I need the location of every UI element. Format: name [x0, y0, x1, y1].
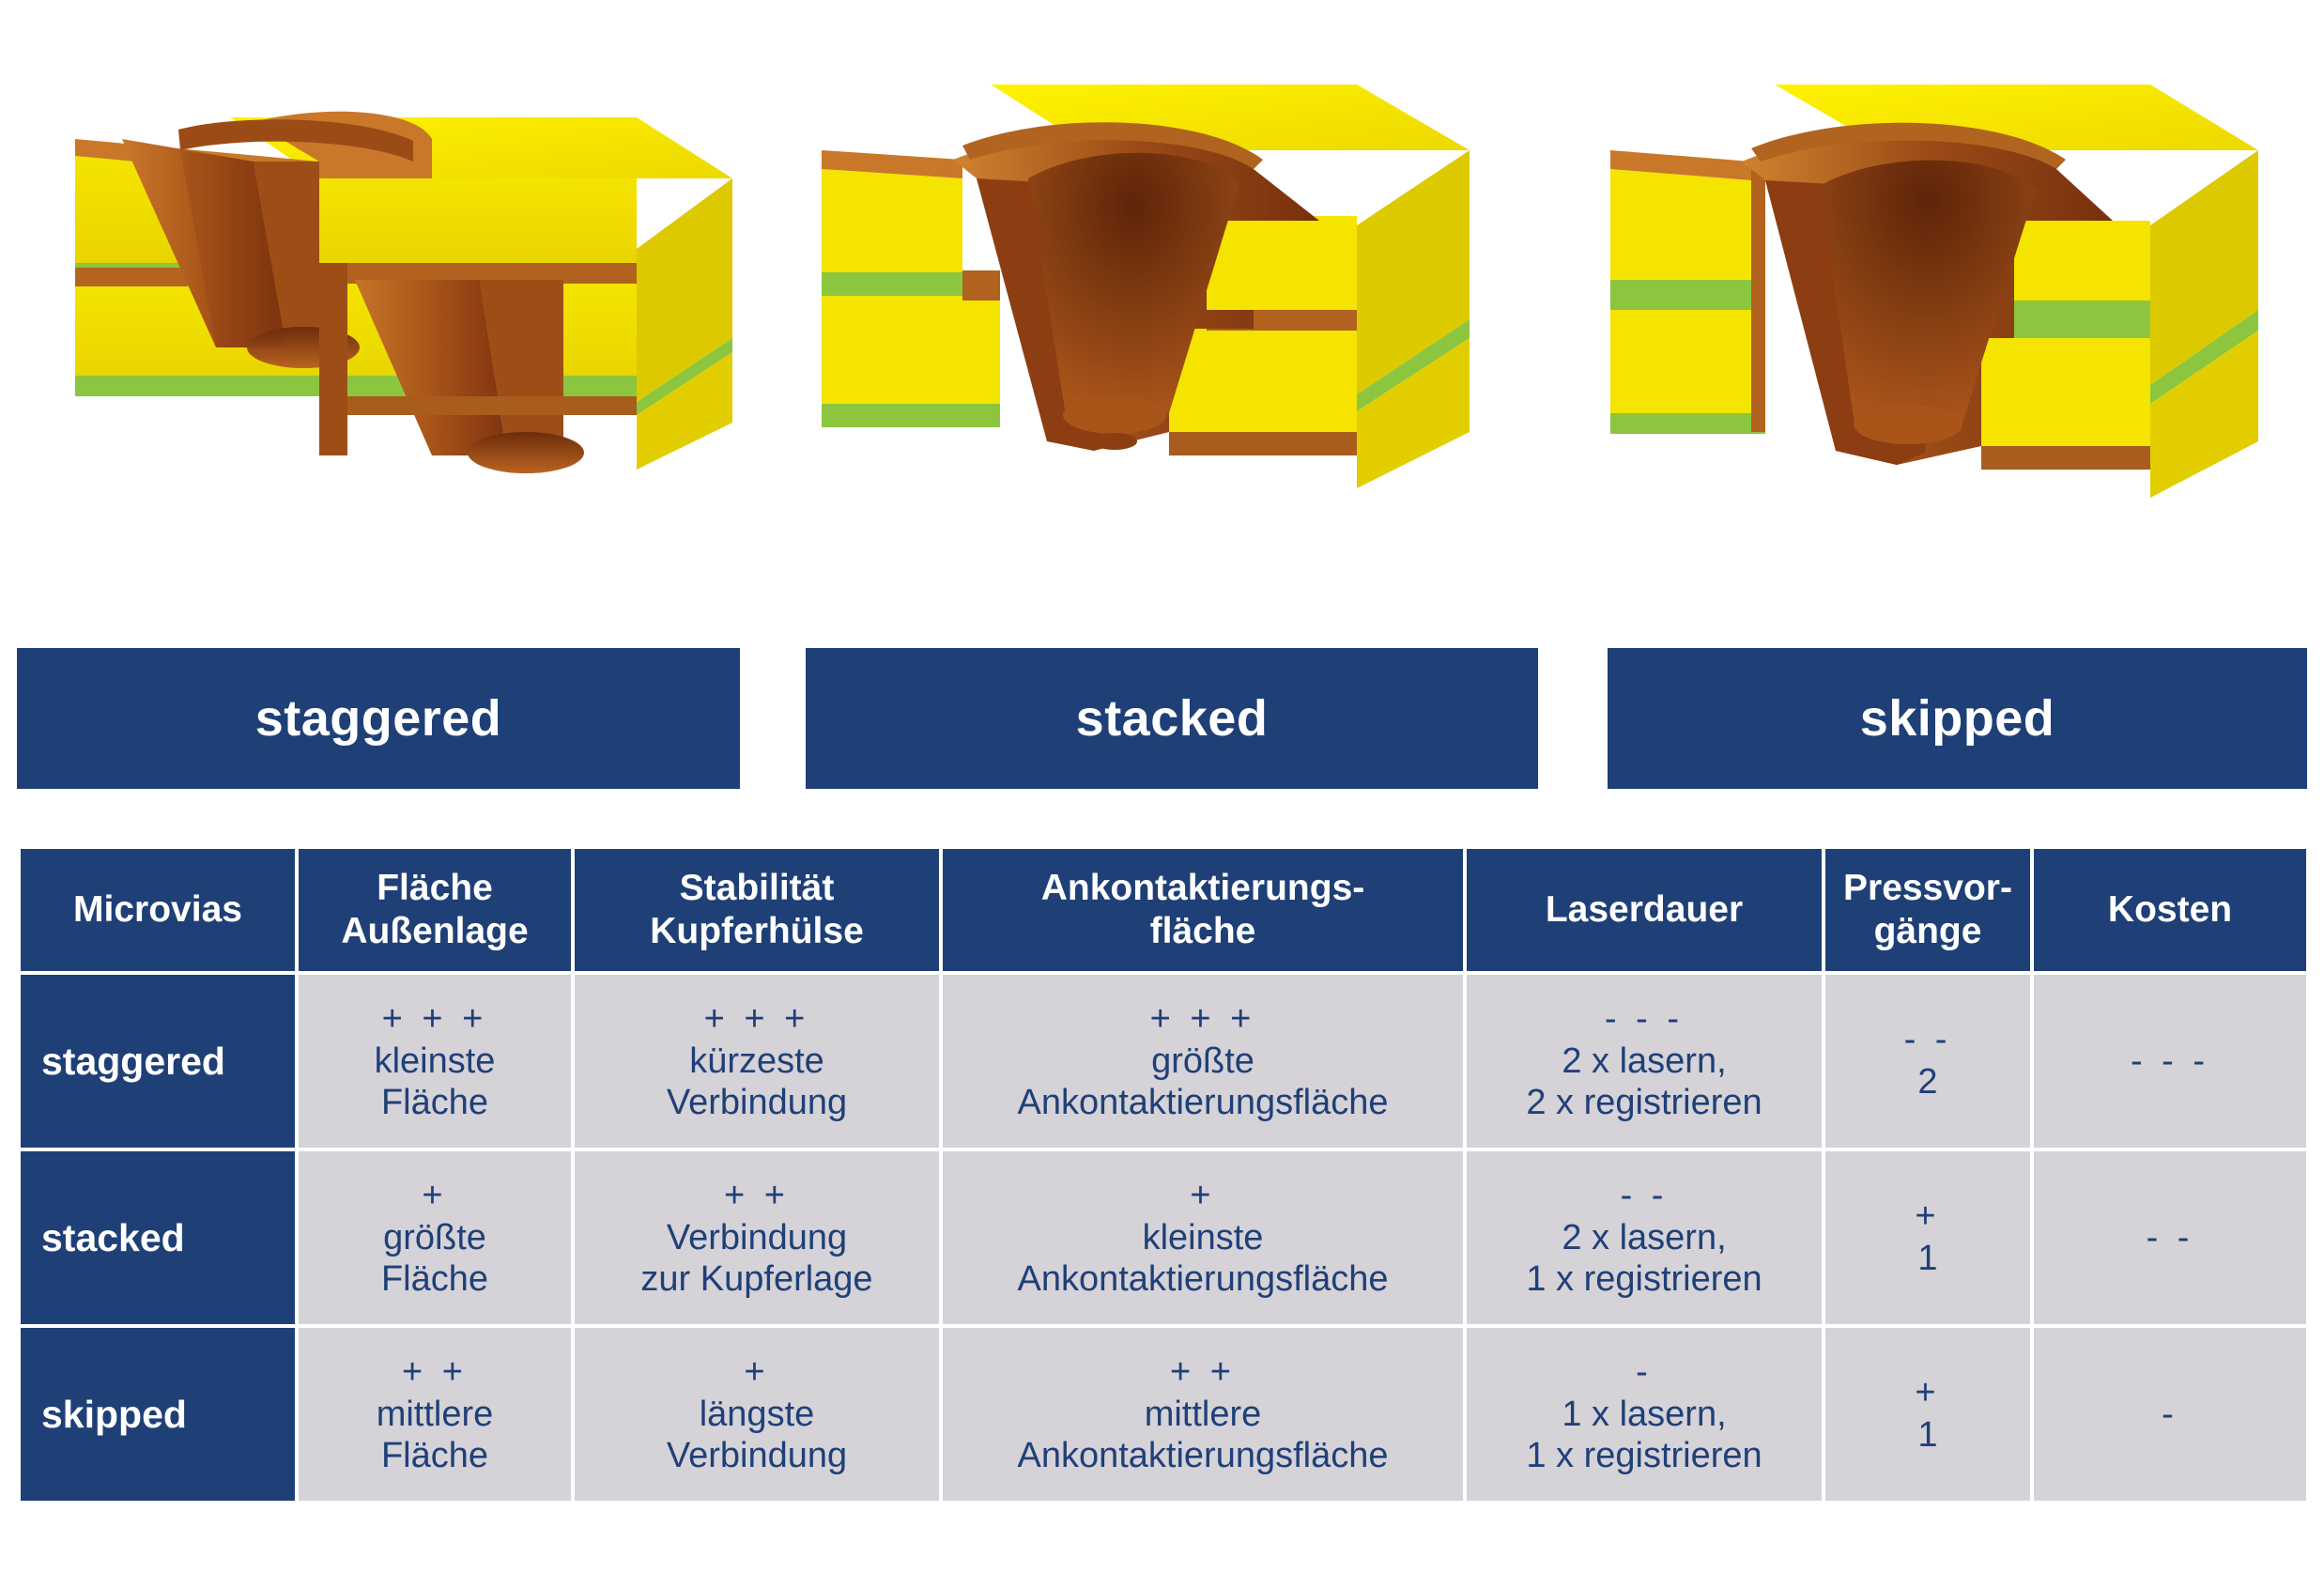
table-row: skipped + + mittlere Fläche + längste Ve… — [21, 1328, 2306, 1501]
cell-skipped-flaeche-aussenlage: + + mittlere Fläche — [299, 1328, 571, 1501]
cell-stacked-flaeche-aussenlage: + größte Fläche — [299, 1151, 571, 1324]
rating: - - - — [2041, 1041, 2299, 1083]
column-header-pressvorgaenge: Pressvor- gänge — [1825, 849, 2030, 971]
rating: + + — [950, 1351, 1455, 1394]
cell-skipped-laserdauer: - 1 x lasern, 1 x registrieren — [1467, 1328, 1822, 1501]
caption-banners: staggered stacked skipped — [0, 648, 2324, 789]
table-row: staggered + + + kleinste Fläche + + + kü… — [21, 975, 2306, 1148]
detail-line: größte — [306, 1217, 563, 1259]
rating: + — [950, 1175, 1455, 1217]
banner-staggered: staggered — [17, 648, 740, 789]
rating: + + — [306, 1351, 563, 1394]
detail-line: 2 x lasern, — [1474, 1217, 1814, 1259]
detail-line: Verbindung — [582, 1082, 931, 1124]
cell-staggered-ankontaktierungsflaeche: + + + größte Ankontaktierungsfläche — [943, 975, 1463, 1148]
microvia-illustrations — [0, 0, 2324, 601]
microvia-comparison-table: Microvias Fläche Außenlage Stabilität Ku… — [17, 845, 2310, 1504]
detail-line: größte — [950, 1041, 1455, 1083]
header-line: gänge — [1874, 911, 1982, 951]
header-line: Ankontaktierungs- — [1041, 868, 1365, 908]
detail-line: 1 x registrieren — [1474, 1258, 1814, 1301]
rating: - - — [1474, 1175, 1814, 1217]
detail-line: 2 x registrieren — [1474, 1082, 1814, 1124]
detail-line: mittlere — [950, 1394, 1455, 1436]
detail-line: kleinste — [950, 1217, 1455, 1259]
header-line: fläche — [1150, 911, 1256, 951]
cell-stacked-laserdauer: - - 2 x lasern, 1 x registrieren — [1467, 1151, 1822, 1324]
header-line: Microvias — [73, 889, 242, 930]
detail-line: Fläche — [306, 1082, 563, 1124]
detail-line: Ankontaktierungsfläche — [950, 1082, 1455, 1124]
cell-staggered-pressvorgaenge: - - 2 — [1825, 975, 2030, 1148]
row-header-staggered: staggered — [21, 975, 295, 1148]
cell-stacked-stabilitaet-kupferhuelse: + + Verbindung zur Kupferlage — [575, 1151, 939, 1324]
cell-stacked-ankontaktierungsflaeche: + kleinste Ankontaktierungsfläche — [943, 1151, 1463, 1324]
detail-line: 1 x registrieren — [1474, 1435, 1814, 1477]
cell-staggered-laserdauer: - - - 2 x lasern, 2 x registrieren — [1467, 975, 1822, 1148]
header-line: Außenlage — [341, 911, 528, 951]
banner-stacked: stacked — [806, 648, 1538, 789]
rating: + + + — [950, 998, 1455, 1041]
figure-staggered-microvia — [38, 28, 732, 517]
detail-line: kleinste — [306, 1041, 563, 1083]
column-header-kosten: Kosten — [2034, 849, 2306, 971]
figure-skipped-microvia — [1587, 28, 2282, 535]
column-header-ankontaktierungsflaeche: Ankontaktierungs- fläche — [943, 849, 1463, 971]
detail-line: Verbindung — [582, 1217, 931, 1259]
detail-line: 2 x lasern, — [1474, 1041, 1814, 1083]
header-line: Laserdauer — [1546, 889, 1743, 930]
rating: - - — [2041, 1217, 2299, 1259]
cell-skipped-pressvorgaenge: + 1 — [1825, 1328, 2030, 1501]
rating: + + — [582, 1175, 931, 1217]
header-line: Kupferhülse — [650, 911, 864, 951]
cell-stacked-kosten: - - — [2034, 1151, 2306, 1324]
cell-staggered-flaeche-aussenlage: + + + kleinste Fläche — [299, 975, 571, 1148]
detail-line: 2 — [1833, 1061, 2023, 1103]
rating: + — [306, 1175, 563, 1217]
row-header-skipped: skipped — [21, 1328, 295, 1501]
rating: + — [1833, 1372, 2023, 1414]
header-line: Fläche — [377, 868, 493, 908]
cell-stacked-pressvorgaenge: + 1 — [1825, 1151, 2030, 1324]
detail-line: 1 — [1833, 1414, 2023, 1457]
cell-skipped-stabilitaet-kupferhuelse: + längste Verbindung — [575, 1328, 939, 1501]
rating: - - — [1833, 1019, 2023, 1061]
detail-line: Ankontaktierungsfläche — [950, 1258, 1455, 1301]
header-line: Pressvor- — [1843, 868, 2012, 908]
cell-skipped-ankontaktierungsflaeche: + + mittlere Ankontaktierungsfläche — [943, 1328, 1463, 1501]
column-header-laserdauer: Laserdauer — [1467, 849, 1822, 971]
detail-line: Fläche — [306, 1435, 563, 1477]
detail-line: längste — [582, 1394, 931, 1436]
detail-line: Fläche — [306, 1258, 563, 1301]
rating: - — [2041, 1394, 2299, 1436]
detail-line: Ankontaktierungsfläche — [950, 1435, 1455, 1477]
rating: - — [1474, 1351, 1814, 1394]
rating: + + + — [306, 998, 563, 1041]
rating: + + + — [582, 998, 931, 1041]
column-header-flaeche-aussenlage: Fläche Außenlage — [299, 849, 571, 971]
table-header-row: Microvias Fläche Außenlage Stabilität Ku… — [21, 849, 2306, 971]
banner-skipped: skipped — [1608, 648, 2307, 789]
figure-stacked-microvia — [812, 28, 1488, 526]
cell-skipped-kosten: - — [2034, 1328, 2306, 1501]
column-header-microvias: Microvias — [21, 849, 295, 971]
cell-staggered-stabilitaet-kupferhuelse: + + + kürzeste Verbindung — [575, 975, 939, 1148]
header-line: Kosten — [2108, 889, 2232, 930]
rating: + — [1833, 1195, 2023, 1238]
header-line: Stabilität — [680, 868, 835, 908]
detail-line: 1 — [1833, 1238, 2023, 1280]
row-header-stacked: stacked — [21, 1151, 295, 1324]
rating: + — [582, 1351, 931, 1394]
detail-line: kürzeste — [582, 1041, 931, 1083]
rating: - - - — [1474, 998, 1814, 1041]
detail-line: Verbindung — [582, 1435, 931, 1477]
detail-line: mittlere — [306, 1394, 563, 1436]
detail-line: zur Kupferlage — [582, 1258, 931, 1301]
column-header-stabilitaet-kupferhuelse: Stabilität Kupferhülse — [575, 849, 939, 971]
table-row: stacked + größte Fläche + + Verbindung z… — [21, 1151, 2306, 1324]
cell-staggered-kosten: - - - — [2034, 975, 2306, 1148]
detail-line: 1 x lasern, — [1474, 1394, 1814, 1436]
